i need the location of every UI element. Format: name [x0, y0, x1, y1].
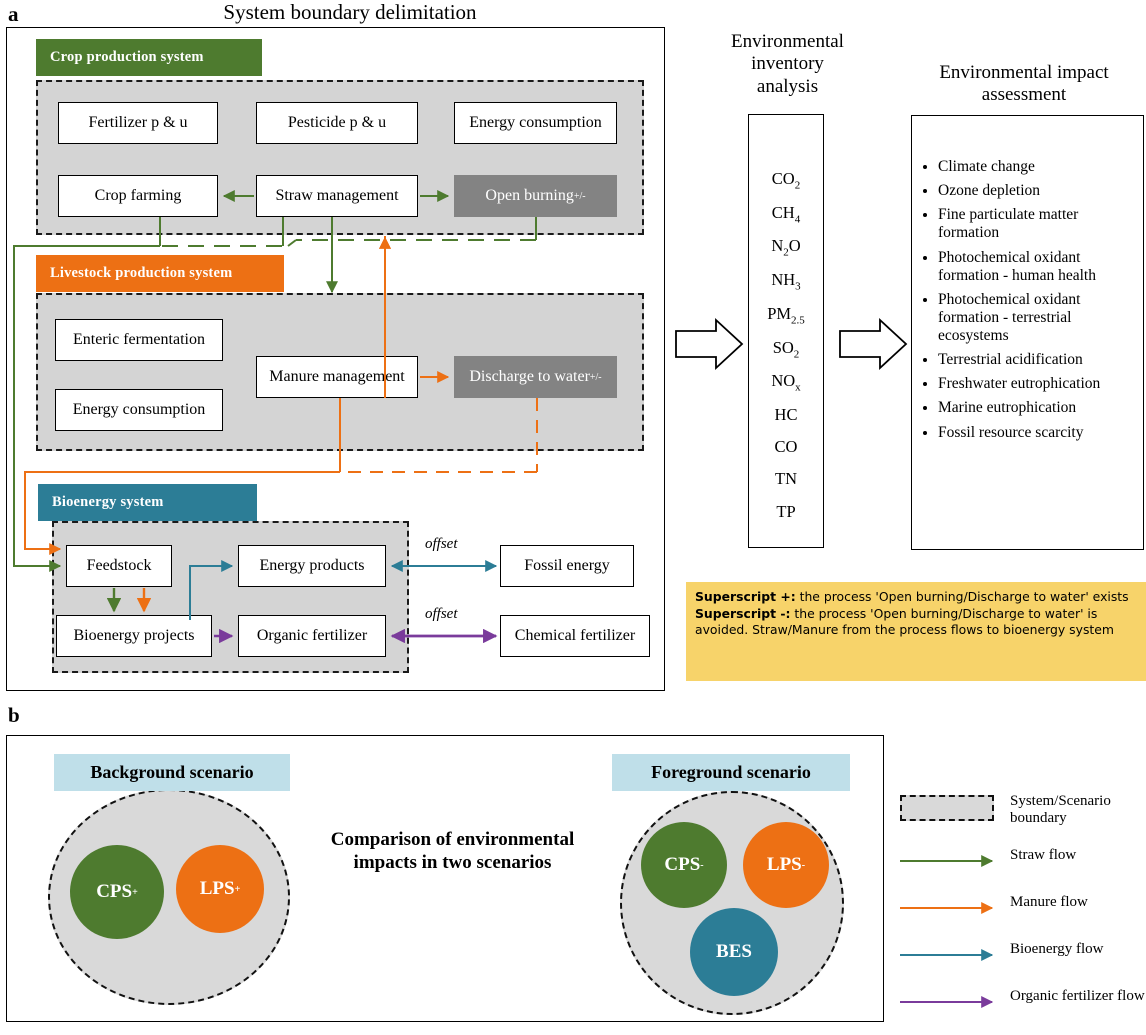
impact-box: Climate changeOzone depletionFine partic…: [911, 115, 1144, 550]
legend-item-label: Straw flow: [1010, 847, 1076, 864]
offset-label-fertilizer: offset: [425, 606, 458, 623]
box-livestock-energy-consumption: Energy consumption: [55, 389, 223, 431]
inventory-title-line-1: Environmental: [700, 31, 875, 53]
circle-cps-plus-label: CPS: [96, 881, 132, 903]
inventory-box: CO2CH4N2ONH3PM2.5SO2NOxHCCOTNTP: [748, 114, 824, 548]
impact-title: Environmental impact assessment: [906, 62, 1142, 107]
box-energy-products: Energy products: [238, 545, 386, 587]
legend-arrow-icon: [900, 847, 1010, 872]
inventory-title: Environmental inventory analysis: [700, 31, 875, 98]
box-crop-farming: Crop farming: [58, 175, 218, 217]
box-discharge-to-water-label: Discharge to water: [469, 368, 590, 386]
note-line-2-bold: Superscript -:: [695, 606, 790, 621]
circle-lps-plus: LPS+: [176, 845, 264, 933]
comparison-text: Comparison of environmental impacts in t…: [300, 828, 605, 874]
box-chemical-fertilizer-label: Chemical fertilizer: [515, 627, 635, 645]
impact-title-line-1: Environmental impact: [906, 62, 1142, 84]
box-enteric-fermentation: Enteric fermentation: [55, 319, 223, 361]
legend-arrow-icon: [900, 941, 1010, 966]
legend-item-label: System/Scenario boundary: [1010, 793, 1146, 827]
box-discharge-to-water: Discharge to water+/-: [454, 356, 617, 398]
circle-cps-minus-superscript: -: [700, 860, 703, 871]
panel-a-title: System boundary delimitation: [150, 1, 550, 25]
note-line-1: Superscript +: the process 'Open burning…: [695, 589, 1137, 606]
circle-bes: BES: [690, 908, 778, 996]
legend-item: Organic fertilizer flow: [900, 988, 1146, 1013]
legend-list: System/Scenario boundaryStraw flowManure…: [900, 793, 1146, 1013]
box-discharge-to-water-superscript: +/-: [590, 372, 602, 383]
bioenergy-system-tab: Bioenergy system: [38, 484, 257, 521]
legend-item-label: Organic fertilizer flow: [1010, 988, 1145, 1005]
impact-item: Photochemical oxidant formation - terres…: [938, 291, 1133, 345]
box-open-burning-superscript: +/-: [574, 191, 586, 202]
inventory-item: N2O: [749, 230, 823, 264]
superscript-note: Superscript +: the process 'Open burning…: [686, 582, 1146, 681]
legend-arrow-icon: [900, 894, 1010, 919]
inventory-title-line-2: inventory: [700, 53, 875, 75]
note-line-1-rest: the process 'Open burning/Discharge to w…: [796, 589, 1129, 604]
circle-lps-minus: LPS-: [743, 822, 829, 908]
box-feedstock-label: Feedstock: [87, 557, 152, 575]
impact-item: Freshwater eutrophication: [938, 375, 1133, 393]
inventory-item: SO2: [749, 332, 823, 366]
impact-list: Climate changeOzone depletionFine partic…: [912, 158, 1143, 442]
circle-lps-minus-label: LPS: [767, 854, 802, 876]
livestock-system-label: Livestock production system: [50, 265, 232, 282]
impact-item: Terrestrial acidification: [938, 351, 1133, 369]
impact-item: Climate change: [938, 158, 1133, 176]
background-scenario-label: Background scenario: [90, 762, 253, 783]
inventory-list: CO2CH4N2ONH3PM2.5SO2NOxHCCOTNTP: [749, 115, 823, 528]
panel-a-letter: a: [8, 2, 19, 27]
box-fertilizer: Fertilizer p & u: [58, 102, 218, 144]
box-organic-fertilizer: Organic fertilizer: [238, 615, 386, 657]
inventory-item: NOx: [749, 365, 823, 399]
inventory-item: TN: [749, 463, 823, 495]
impact-item: Marine eutrophication: [938, 399, 1133, 417]
circle-lps-plus-label: LPS: [200, 878, 235, 900]
crop-system-tab: Crop production system: [36, 39, 262, 76]
block-arrow-2: [840, 320, 906, 368]
box-pesticide: Pesticide p & u: [256, 102, 418, 144]
background-scenario-tab: Background scenario: [54, 754, 290, 791]
inventory-item: CO: [749, 431, 823, 463]
comparison-line-1: Comparison of environmental: [300, 828, 605, 851]
circle-cps-minus: CPS-: [641, 822, 727, 908]
box-straw-management: Straw management: [256, 175, 418, 217]
impact-item: Ozone depletion: [938, 182, 1133, 200]
legend-item-label: Manure flow: [1010, 894, 1088, 911]
box-fossil-energy: Fossil energy: [500, 545, 634, 587]
box-feedstock: Feedstock: [66, 545, 172, 587]
note-line-2: Superscript -: the process 'Open burning…: [695, 606, 1137, 639]
box-energy-products-label: Energy products: [259, 557, 364, 575]
box-enteric-fermentation-label: Enteric fermentation: [73, 331, 205, 349]
bioenergy-system-label: Bioenergy system: [52, 494, 164, 511]
box-crop-energy-consumption: Energy consumption: [454, 102, 617, 144]
circle-cps-plus: CPS+: [70, 845, 164, 939]
legend-item: Straw flow: [900, 847, 1146, 872]
circle-lps-plus-superscript: +: [235, 884, 241, 895]
legend-item: Bioenergy flow: [900, 941, 1146, 966]
legend-boundary-swatch: [900, 793, 1010, 821]
box-open-burning: Open burning+/-: [454, 175, 617, 217]
foreground-scenario-tab: Foreground scenario: [612, 754, 850, 791]
legend-item: Manure flow: [900, 894, 1146, 919]
circle-cps-minus-label: CPS: [664, 854, 700, 876]
foreground-scenario-label: Foreground scenario: [651, 762, 811, 783]
box-pesticide-label: Pesticide p & u: [288, 114, 386, 132]
legend-arrow-icon: [900, 988, 1010, 1013]
box-bioenergy-projects: Bioenergy projects: [56, 615, 212, 657]
block-arrow-1: [676, 320, 742, 368]
box-fossil-energy-label: Fossil energy: [524, 557, 609, 575]
circle-cps-plus-superscript: +: [132, 887, 138, 898]
impact-item: Fossil resource scarcity: [938, 424, 1133, 442]
legend-item: System/Scenario boundary: [900, 793, 1146, 827]
impact-title-line-2: assessment: [906, 84, 1142, 106]
box-manure-management: Manure management: [256, 356, 418, 398]
box-fertilizer-label: Fertilizer p & u: [88, 114, 187, 132]
comparison-line-2: impacts in two scenarios: [300, 851, 605, 874]
impact-item: Photochemical oxidant formation - human …: [938, 249, 1133, 285]
panel-b-letter: b: [8, 703, 20, 728]
inventory-item: HC: [749, 399, 823, 431]
box-chemical-fertilizer: Chemical fertilizer: [500, 615, 650, 657]
box-livestock-energy-consumption-label: Energy consumption: [73, 401, 206, 419]
inventory-title-line-3: analysis: [700, 76, 875, 98]
box-open-burning-label: Open burning: [485, 187, 573, 205]
circle-lps-minus-superscript: -: [802, 860, 805, 871]
crop-system-label: Crop production system: [50, 49, 204, 66]
legend-item-label: Bioenergy flow: [1010, 941, 1103, 958]
note-line-1-bold: Superscript +:: [695, 589, 796, 604]
impact-item: Fine particulate matter formation: [938, 206, 1133, 242]
inventory-item: NH3: [749, 264, 823, 298]
box-bioenergy-projects-label: Bioenergy projects: [73, 627, 194, 645]
livestock-system-tab: Livestock production system: [36, 255, 284, 292]
inventory-item: TP: [749, 496, 823, 528]
legend: System/Scenario boundaryStraw flowManure…: [900, 793, 1146, 1035]
inventory-item: CO2: [749, 163, 823, 197]
box-straw-management-label: Straw management: [275, 187, 398, 205]
box-manure-management-label: Manure management: [269, 368, 405, 386]
offset-label-energy: offset: [425, 536, 458, 553]
circle-bes-label: BES: [716, 941, 752, 963]
box-organic-fertilizer-label: Organic fertilizer: [257, 627, 367, 645]
inventory-item: CH4: [749, 197, 823, 231]
box-crop-energy-consumption-label: Energy consumption: [469, 114, 602, 132]
inventory-item: PM2.5: [749, 298, 823, 332]
box-crop-farming-label: Crop farming: [95, 187, 182, 205]
